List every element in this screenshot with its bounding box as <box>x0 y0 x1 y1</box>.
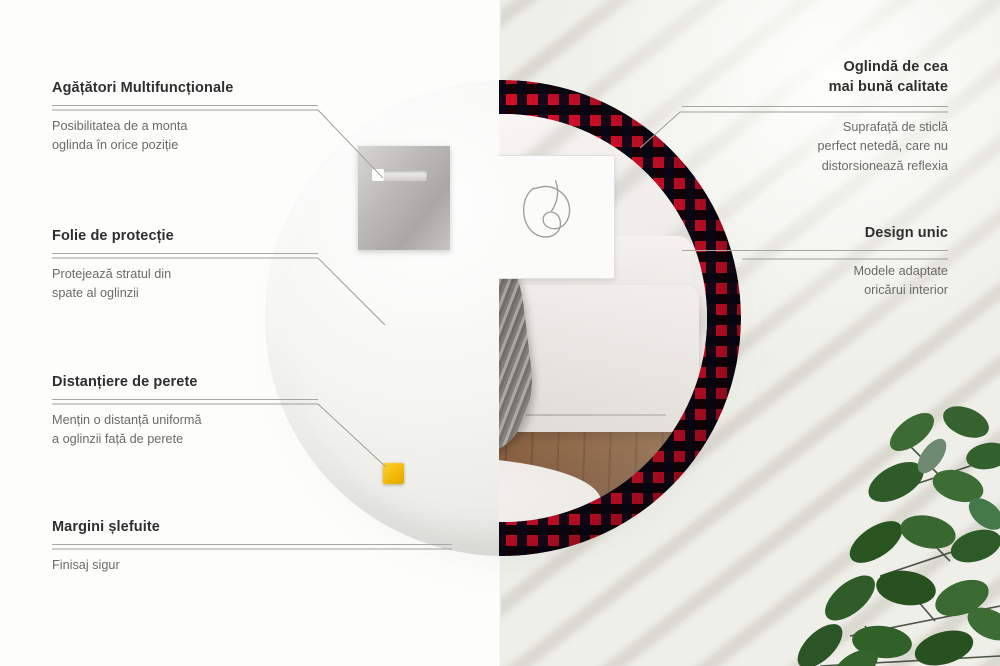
callout-title: Agățători Multifuncționale <box>52 80 318 96</box>
hanger-plate <box>358 146 450 250</box>
callout-description: Suprafață de sticlă perfect netedă, care… <box>682 118 948 176</box>
infographic-stage: Agățători Multifuncționale Posibilitatea… <box>0 0 1000 666</box>
callout-description: Posibilitatea de a monta oglinda în oric… <box>52 117 318 156</box>
callout-design: Design unic Modele adaptate oricărui int… <box>682 225 948 301</box>
callout-margini: Margini șlefuite Finisaj sigur <box>52 519 400 575</box>
callout-agatatori: Agățători Multifuncționale Posibilitatea… <box>52 80 318 156</box>
callout-rule <box>52 544 452 545</box>
callout-description: Modele adaptate oricărui interior <box>682 262 948 301</box>
callout-distantiere: Distanțiere de perete Mențin o distanță … <box>52 374 318 450</box>
callout-description: Finisaj sigur <box>52 556 400 575</box>
callout-title: Folie de protecție <box>52 228 318 244</box>
hanger-keyhole-slot <box>375 170 427 181</box>
callout-description: Mențin o distanță uniformă a oglinzii fa… <box>52 411 318 450</box>
callout-title: Oglindă de cea mai bună calitate <box>682 58 948 97</box>
callout-title: Design unic <box>682 225 948 241</box>
callout-title: Distanțiere de perete <box>52 374 318 390</box>
callout-rule <box>52 399 318 400</box>
plant-decoration <box>700 336 1000 666</box>
callout-rule <box>52 105 318 106</box>
yellow-spacer <box>383 463 404 484</box>
callout-description: Protejează stratul din spate al oglinzii <box>52 265 318 304</box>
round-mirror <box>265 80 741 556</box>
callout-calitate: Oglindă de cea mai bună calitate Suprafa… <box>682 58 948 176</box>
callout-rule <box>52 253 318 254</box>
callout-folie: Folie de protecție Protejează stratul di… <box>52 228 318 304</box>
callout-rule <box>682 250 948 251</box>
callout-rule <box>682 106 948 107</box>
callout-title: Margini șlefuite <box>52 519 400 535</box>
